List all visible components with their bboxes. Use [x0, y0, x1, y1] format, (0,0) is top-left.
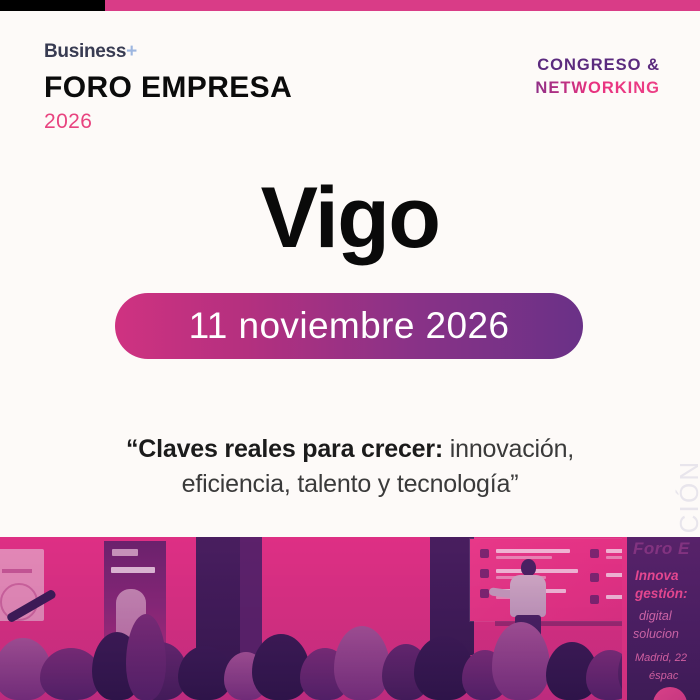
- photo-panel-meta-1: Madrid, 22: [635, 650, 687, 667]
- photo-panel-headline-1: Innova: [635, 567, 679, 585]
- event-type-label: CONGRESO & NETWORKING: [535, 54, 660, 101]
- brand-name: Business: [44, 42, 126, 61]
- slide-icon-1: [480, 549, 489, 558]
- date-badge-label: 11 noviembre 2026: [189, 305, 510, 347]
- photo-banner-logo: [112, 549, 138, 556]
- crowd-head: [126, 614, 166, 700]
- event-type-line-1: CONGRESO &: [535, 54, 660, 77]
- city-title: Vigo: [0, 175, 700, 261]
- photo-panel-dot: [653, 687, 687, 700]
- tagline-quote-open: “: [126, 435, 138, 463]
- crowd-head: [492, 622, 550, 700]
- event-year: 2026: [44, 111, 292, 132]
- photo-info-panel: Foro E Innova gestión: digital solucion …: [627, 537, 700, 700]
- top-accent-bar: [0, 0, 700, 11]
- crowd-head: [334, 626, 390, 700]
- photo-speaker-head: [521, 559, 536, 576]
- brand-lockup: Business+: [44, 42, 292, 61]
- tagline-bold-part: Claves reales para crecer:: [138, 435, 443, 463]
- photo-band: Foro E Innova gestión: digital solucion …: [0, 537, 700, 700]
- slide-row-2: [496, 569, 578, 573]
- photo-panel-meta-2: éspac: [649, 668, 678, 685]
- event-type-line-2: NETWORKING: [535, 77, 660, 100]
- photo-panel-sub-1: digital: [639, 607, 672, 625]
- event-name: FORO EMPRESA: [44, 72, 292, 104]
- event-poster: Business+ FORO EMPRESA 2026 CONGRESO & N…: [0, 0, 700, 700]
- photo-canvas: Foro E Innova gestión: digital solucion …: [0, 537, 700, 700]
- photo-panel-top-text: Foro E: [633, 539, 690, 559]
- slide-row-1: [496, 549, 570, 553]
- slide-icon-2: [480, 569, 489, 578]
- slide-rowsub-1: [496, 556, 552, 559]
- photo-panel-sub-2: solucion: [633, 625, 679, 643]
- slide-icon-4: [590, 549, 599, 558]
- photo-crowd: [0, 590, 700, 700]
- top-black-segment: [0, 0, 105, 11]
- photo-banner-title: [111, 567, 155, 573]
- brand-plus-icon: +: [126, 42, 137, 61]
- brand-block: Business+ FORO EMPRESA 2026: [44, 42, 292, 132]
- slide-icon-5: [590, 573, 599, 582]
- photo-left-board-line: [2, 569, 32, 573]
- photo-panel-headline-2: gestión:: [635, 585, 688, 603]
- tagline: “Claves reales para crecer: innovación, …: [80, 432, 620, 501]
- date-badge: 11 noviembre 2026: [115, 293, 583, 359]
